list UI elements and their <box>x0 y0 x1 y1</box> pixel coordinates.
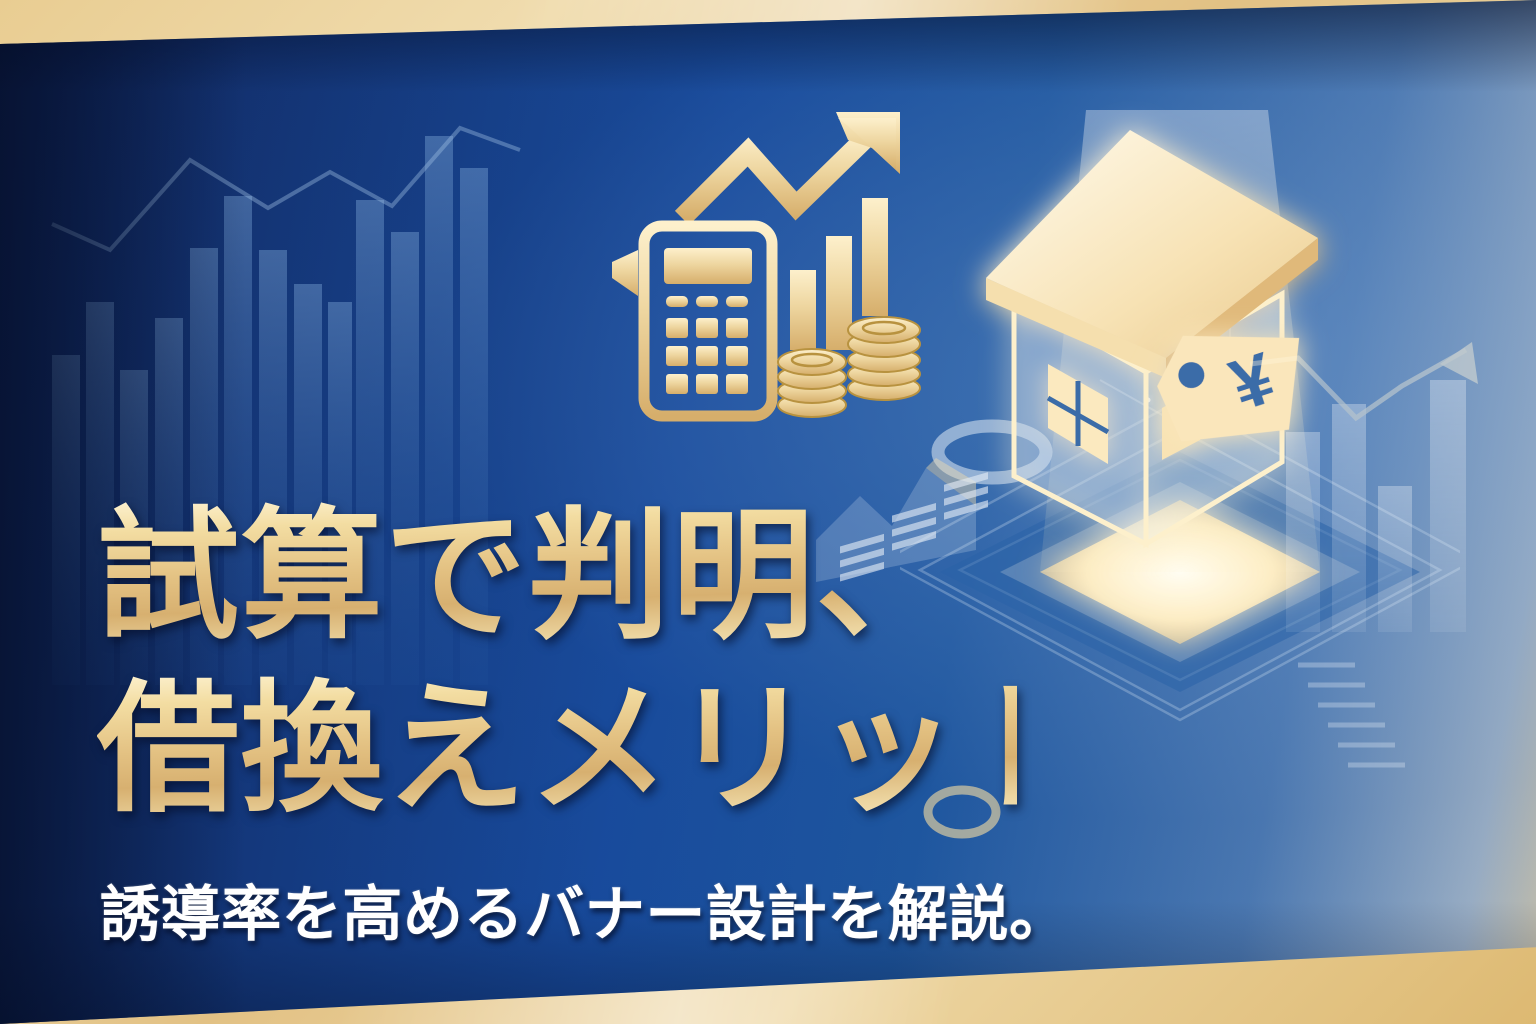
headline-line-1: 試算で判明、 <box>97 498 1017 657</box>
right-bars <box>1286 380 1466 632</box>
circuit-hatch-marks <box>1298 665 1405 765</box>
headline-line-2: 借換えメリット。 <box>97 671 1017 830</box>
coin-stack-icon-back <box>848 317 920 400</box>
diamond-accent-icon <box>612 250 638 296</box>
right-arrow-head <box>1440 342 1478 384</box>
headline-block: 試算で判明、 借換えメリット。 <box>97 498 1017 830</box>
calculator-keys <box>666 296 748 394</box>
banner-root: ¥ <box>0 0 1536 1024</box>
calculator-icon <box>644 226 772 416</box>
coin-stack-icon <box>778 349 846 417</box>
subheadline: 誘導率を高めるバナー設計を解説。 <box>100 866 1070 953</box>
right-background-chart <box>1250 340 1536 660</box>
finance-icon-cluster <box>600 100 980 450</box>
